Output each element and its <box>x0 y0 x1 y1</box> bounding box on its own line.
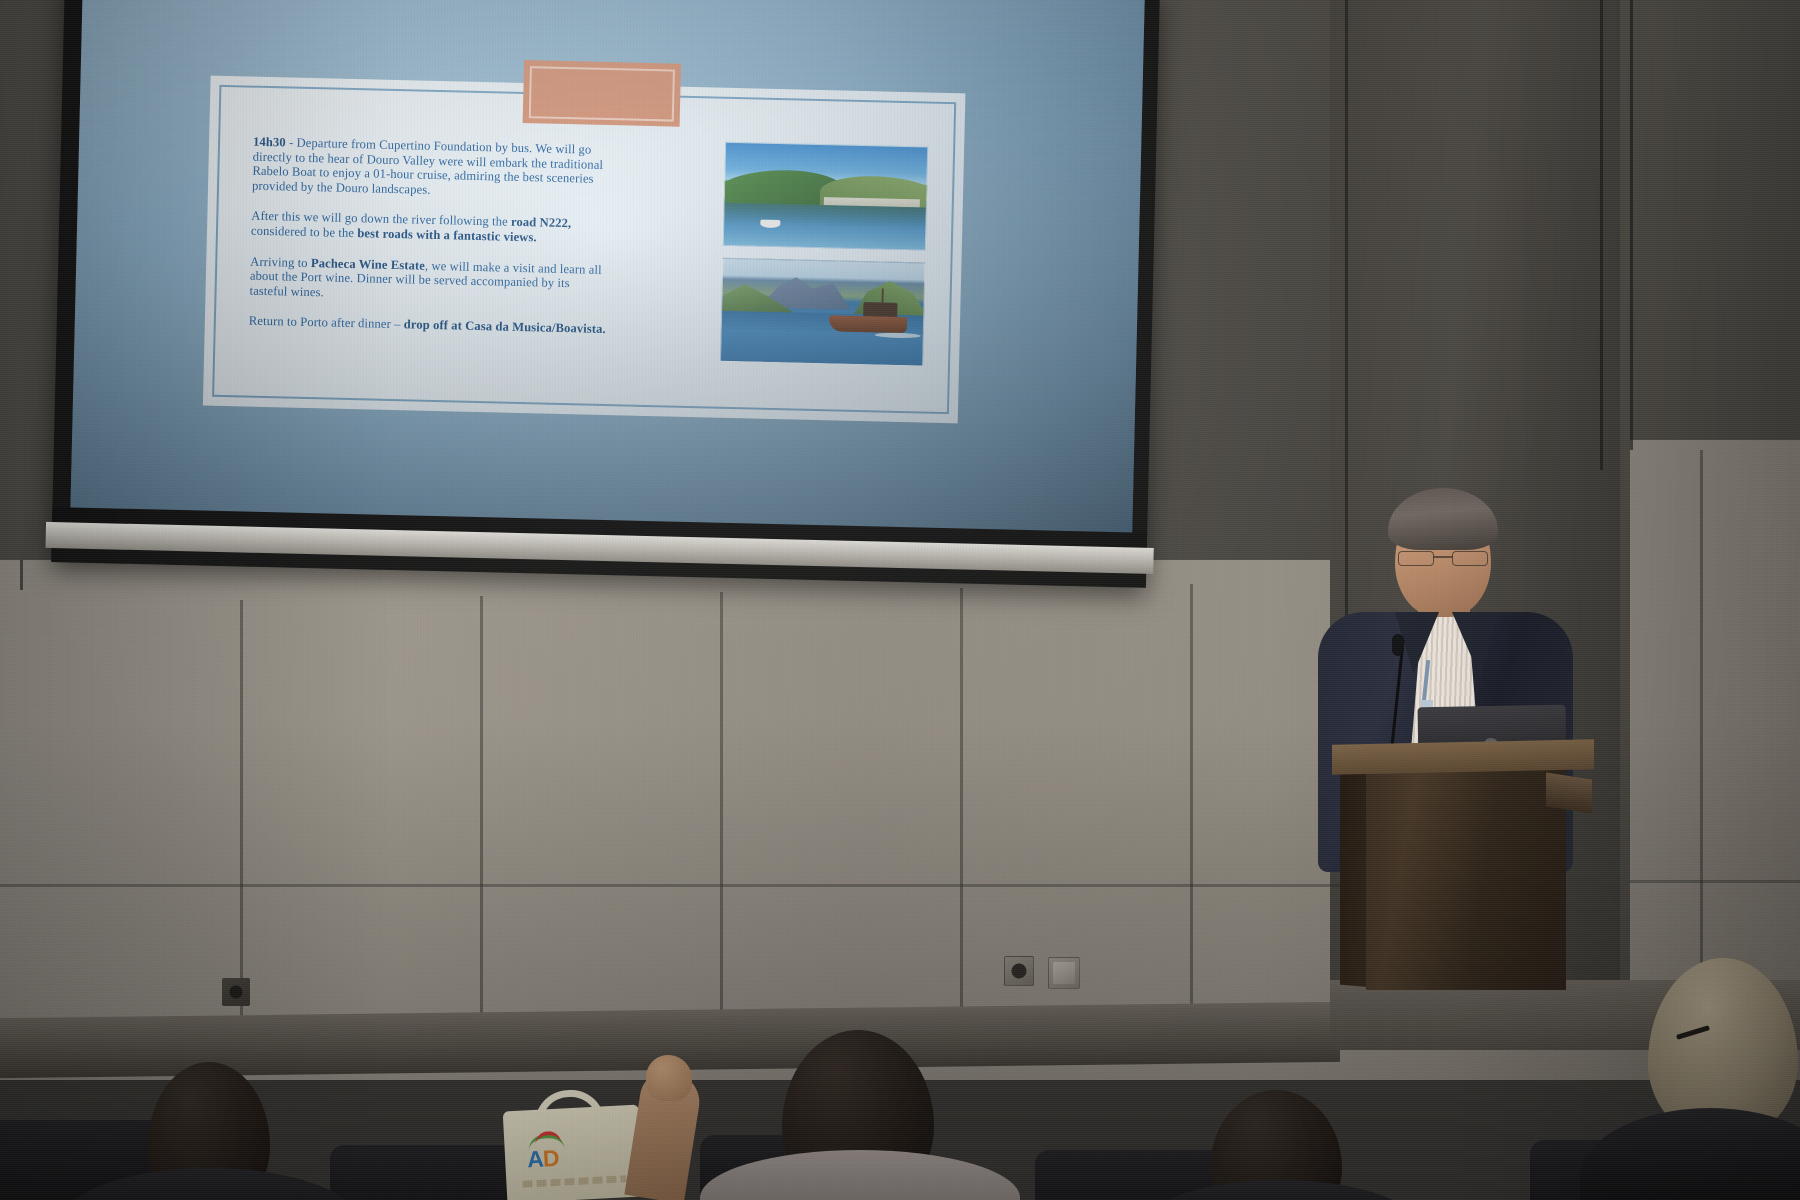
wall-seam <box>960 588 963 1020</box>
tote-logo-letter-a: A <box>527 1146 544 1173</box>
small-boat <box>760 220 780 228</box>
tote-logo-letter-d: D <box>542 1145 559 1172</box>
auditorium-seat <box>330 1145 530 1200</box>
slide-photo-douro-valley <box>723 142 928 251</box>
socket-hole-icon <box>230 986 243 999</box>
wall-outlet-right[interactable] <box>1004 956 1034 986</box>
presentation-photo-scene: 14h30 - Departure from Cupertino Foundat… <box>0 0 1800 1200</box>
slide-text-emphasis: drop off at Casa da Musica/Boavista. <box>404 318 606 337</box>
speaker-glasses-bridge <box>1433 556 1453 558</box>
slide-photo-column <box>720 142 928 379</box>
tote-logo-arc-red-icon <box>535 1131 562 1146</box>
wall-seam <box>1700 450 1703 1010</box>
projection-screen: 14h30 - Departure from Cupertino Foundat… <box>51 0 1160 588</box>
podium-side-shelf <box>1546 772 1592 813</box>
wall-seam-dark <box>20 560 23 590</box>
switch-rocker-icon <box>1053 962 1075 984</box>
wall-seam <box>240 600 243 1020</box>
slide-text-run: - Departure from Cupertino Foundation by… <box>252 135 603 196</box>
slide-paragraph-2: After this we will go down the river fol… <box>251 209 612 247</box>
tote-bag-subtext <box>522 1175 626 1187</box>
wall-column-right-light <box>1630 440 1800 1040</box>
wall-outlet-left[interactable] <box>222 978 250 1006</box>
podium-top-surface <box>1332 739 1594 774</box>
wall-seam-horizontal <box>0 884 1340 887</box>
tote-bag: AD <box>503 1105 644 1200</box>
audience-shoulders <box>1580 1108 1800 1200</box>
slide-paragraph-1: 14h30 - Departure from Cupertino Foundat… <box>252 135 613 202</box>
slide-text-emphasis: best roads with a fantastic views. <box>357 226 537 244</box>
wall-switch-right[interactable] <box>1048 957 1080 989</box>
slide-text-emphasis: road N222, <box>511 215 572 230</box>
wall-seam-dark <box>1630 0 1633 450</box>
wall-seam-dark <box>1600 0 1603 470</box>
water-reflection <box>724 203 925 230</box>
slide-paragraph-3: Arriving to Pacheca Wine Estate, we will… <box>249 254 610 306</box>
tote-bag-logo: AD <box>527 1147 559 1172</box>
slide-accent-tab-border <box>529 66 675 121</box>
slide-paragraph-4: Return to Porto after dinner – drop off … <box>249 314 609 337</box>
slide-accent-tab <box>523 60 681 127</box>
microphone-icon <box>1392 634 1404 656</box>
slide-text-run: considered to be the <box>251 224 358 241</box>
socket-hole-icon <box>1012 964 1027 979</box>
slide-photo-rabelo-boat <box>720 258 925 367</box>
slide-text-emphasis: 14h30 <box>253 135 286 150</box>
wall-seam <box>720 592 723 1020</box>
projection-screen-surface: 14h30 - Departure from Cupertino Foundat… <box>70 0 1145 547</box>
wall-seam <box>1190 584 1193 1020</box>
slide-text-column: 14h30 - Departure from Cupertino Foundat… <box>248 135 613 353</box>
wall-seam <box>480 596 483 1020</box>
wall-seam-horizontal <box>1630 880 1800 883</box>
audience-hand <box>646 1055 692 1101</box>
podium-front-panel <box>1366 768 1566 990</box>
slide-text-run: Return to Porto after dinner – <box>249 314 404 332</box>
slide-text-run: Arriving to <box>250 254 311 269</box>
presentation-slide: 14h30 - Departure from Cupertino Foundat… <box>203 76 966 424</box>
boat-hull <box>829 315 907 333</box>
